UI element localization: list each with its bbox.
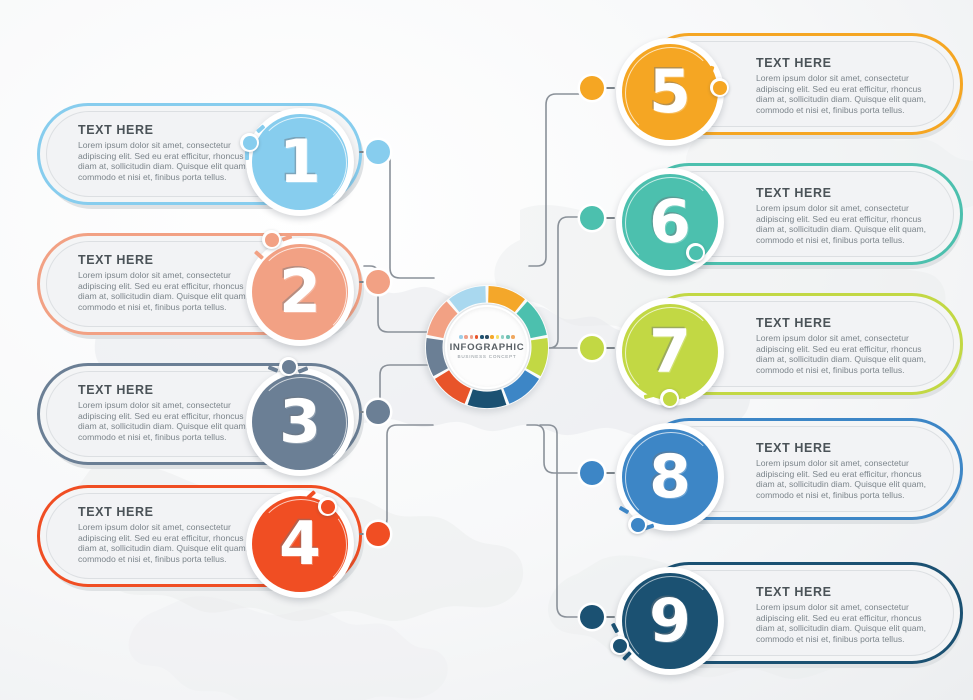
card-7-text: TEXT HERE Lorem ipsum dolor sit amet, co…	[756, 316, 941, 375]
card-9-body: Lorem ipsum dolor sit amet, consectetur …	[756, 602, 941, 644]
step-card-1[interactable]: TEXT HERE Lorem ipsum dolor sit amet, co…	[34, 100, 379, 215]
card-5-body: Lorem ipsum dolor sit amet, consectetur …	[756, 73, 941, 115]
card-9-title: TEXT HERE	[756, 585, 941, 599]
hub-title: INFOGRAPHIC	[450, 342, 525, 353]
hub-center-label: INFOGRAPHIC BUSINESS CONCEPT	[447, 307, 527, 387]
step-9-badge[interactable]: 9	[598, 562, 738, 684]
center-hub[interactable]: INFOGRAPHIC BUSINESS CONCEPT	[416, 276, 558, 418]
step-7-badge[interactable]: 7	[598, 293, 738, 413]
step-9-clasp-dot	[613, 639, 627, 653]
step-4-clasp	[318, 497, 337, 516]
infographic-canvas: TEXT HERE Lorem ipsum dolor sit amet, co…	[0, 0, 973, 700]
card-7-title: TEXT HERE	[756, 316, 941, 330]
card-6-text: TEXT HERE Lorem ipsum dolor sit amet, co…	[756, 186, 941, 245]
step-6-clasp	[686, 243, 705, 262]
hub-dot-row	[459, 335, 514, 339]
step-1-outer-dot	[366, 140, 390, 164]
hub-dot-4	[475, 335, 479, 339]
step-card-4[interactable]: TEXT HERE Lorem ipsum dolor sit amet, co…	[34, 482, 379, 597]
hub-dot-11	[511, 335, 515, 339]
step-1-badge[interactable]: 1	[232, 103, 372, 218]
step-9-outer-dot	[580, 605, 604, 629]
card-8-text: TEXT HERE Lorem ipsum dolor sit amet, co…	[756, 441, 941, 500]
step-8-stem	[606, 472, 615, 474]
card-5-text: TEXT HERE Lorem ipsum dolor sit amet, co…	[756, 56, 941, 115]
step-7-outer-dot	[580, 336, 604, 360]
step-5-badge[interactable]: 5	[598, 33, 738, 153]
step-7-clasp-dot	[663, 392, 677, 406]
step-9-clasp	[610, 636, 629, 655]
step-5-outer-dot	[580, 76, 604, 100]
step-2-badge[interactable]: 2	[232, 233, 372, 348]
step-6-stem	[606, 217, 615, 219]
step-5-clasp-dot	[713, 81, 727, 95]
step-4-outer-dot	[366, 522, 390, 546]
hub-dot-10	[506, 335, 510, 339]
step-3-badge[interactable]: 3	[232, 363, 372, 478]
step-3-clasp-dot	[282, 360, 296, 374]
hub-subtitle: BUSINESS CONCEPT	[458, 354, 517, 359]
step-6-badge[interactable]: 6	[598, 163, 738, 283]
step-card-6[interactable]: TEXT HERE Lorem ipsum dolor sit amet, co…	[621, 160, 966, 280]
step-2-clasp-dot	[265, 233, 279, 247]
hub-dot-7	[490, 335, 494, 339]
hub-dot-8	[496, 335, 500, 339]
card-8-body: Lorem ipsum dolor sit amet, consectetur …	[756, 458, 941, 500]
step-2-arc	[255, 247, 347, 339]
step-1-clasp-dot	[243, 136, 257, 150]
card-5-title: TEXT HERE	[756, 56, 941, 70]
step-card-9[interactable]: TEXT HERE Lorem ipsum dolor sit amet, co…	[621, 559, 966, 681]
step-9-stem	[606, 616, 615, 618]
step-card-5[interactable]: TEXT HERE Lorem ipsum dolor sit amet, co…	[621, 30, 966, 150]
step-4-clasp-dot	[321, 500, 335, 514]
step-3-arc	[255, 377, 347, 469]
card-8-title: TEXT HERE	[756, 441, 941, 455]
step-card-8[interactable]: TEXT HERE Lorem ipsum dolor sit amet, co…	[621, 415, 966, 535]
step-8-arc	[625, 432, 717, 524]
step-5-clasp	[710, 78, 729, 97]
card-9-text: TEXT HERE Lorem ipsum dolor sit amet, co…	[756, 585, 941, 644]
hub-dot-5	[480, 335, 484, 339]
card-6-title: TEXT HERE	[756, 186, 941, 200]
step-card-2[interactable]: TEXT HERE Lorem ipsum dolor sit amet, co…	[34, 230, 379, 345]
step-3-clasp	[279, 357, 298, 376]
step-7-stem	[606, 347, 615, 349]
step-8-outer-dot	[580, 461, 604, 485]
step-card-7[interactable]: TEXT HERE Lorem ipsum dolor sit amet, co…	[621, 290, 966, 410]
step-4-badge[interactable]: 4	[232, 485, 372, 600]
step-1-clasp	[240, 133, 259, 152]
step-card-3[interactable]: TEXT HERE Lorem ipsum dolor sit amet, co…	[34, 360, 379, 475]
step-2-clasp	[262, 230, 281, 249]
hub-dot-1	[459, 335, 463, 339]
hub-dot-3	[470, 335, 474, 339]
step-3-outer-dot	[366, 400, 390, 424]
step-8-clasp-dot	[631, 518, 645, 532]
hub-segment-5[interactable]	[468, 389, 507, 408]
hub-dot-2	[464, 335, 468, 339]
step-6-outer-dot	[580, 206, 604, 230]
card-6-body: Lorem ipsum dolor sit amet, consectetur …	[756, 203, 941, 245]
step-5-stem	[606, 87, 615, 89]
step-8-clasp	[628, 515, 647, 534]
step-7-clasp	[660, 389, 679, 408]
hub-dot-9	[501, 335, 505, 339]
step-1-tick-b	[245, 151, 249, 160]
step-9-arc	[625, 576, 717, 668]
step-3-tick-a	[268, 365, 279, 372]
step-6-clasp-dot	[689, 246, 703, 260]
step-7-arc	[625, 307, 717, 399]
step-5-arc	[625, 47, 717, 139]
step-8-badge[interactable]: 8	[598, 418, 738, 538]
hub-dot-6	[485, 335, 489, 339]
card-7-body: Lorem ipsum dolor sit amet, consectetur …	[756, 333, 941, 375]
step-2-outer-dot	[366, 270, 390, 294]
step-1-arc	[255, 117, 347, 209]
